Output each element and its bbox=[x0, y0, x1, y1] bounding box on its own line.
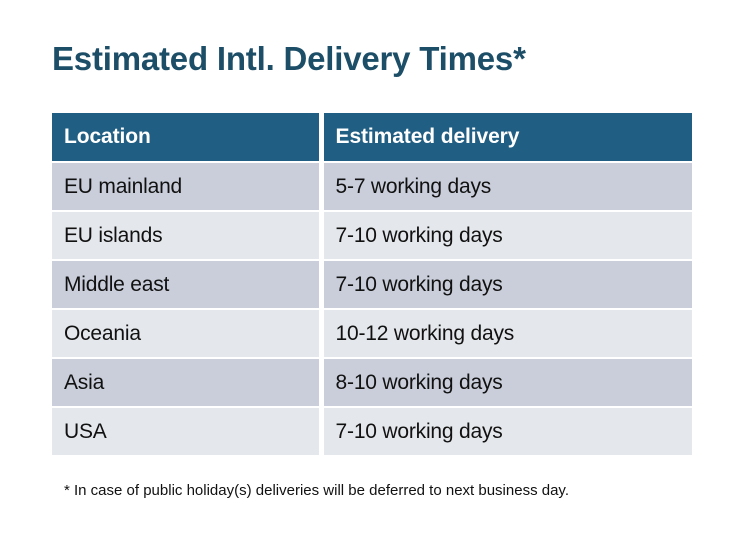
table-body: EU mainland5-7 working daysEU islands7-1… bbox=[52, 161, 692, 455]
table-row: Asia8-10 working days bbox=[52, 359, 692, 406]
cell-location: Asia bbox=[52, 359, 319, 406]
table-row: Middle east7-10 working days bbox=[52, 261, 692, 308]
footnote: * In case of public holiday(s) deliverie… bbox=[64, 481, 569, 501]
cell-location: EU mainland bbox=[52, 163, 319, 210]
cell-estimated-delivery: 7-10 working days bbox=[324, 261, 692, 308]
cell-estimated-delivery: 8-10 working days bbox=[324, 359, 692, 406]
cell-estimated-delivery: 7-10 working days bbox=[324, 408, 692, 455]
column-header-location: Location bbox=[52, 113, 319, 161]
cell-location: EU islands bbox=[52, 212, 319, 259]
page-title: Estimated Intl. Delivery Times* bbox=[52, 37, 526, 81]
table-row: EU islands7-10 working days bbox=[52, 212, 692, 259]
table-header: Location Estimated delivery bbox=[52, 113, 692, 161]
table-header-row: Location Estimated delivery bbox=[52, 113, 692, 161]
cell-location: USA bbox=[52, 408, 319, 455]
table-row: USA7-10 working days bbox=[52, 408, 692, 455]
cell-location: Oceania bbox=[52, 310, 319, 357]
table-row: EU mainland5-7 working days bbox=[52, 163, 692, 210]
cell-estimated-delivery: 10-12 working days bbox=[324, 310, 692, 357]
table-row: Oceania10-12 working days bbox=[52, 310, 692, 357]
cell-estimated-delivery: 7-10 working days bbox=[324, 212, 692, 259]
cell-estimated-delivery: 5-7 working days bbox=[324, 163, 692, 210]
delivery-times-card: Estimated Intl. Delivery Times* Location… bbox=[0, 0, 745, 536]
column-header-estimated-delivery: Estimated delivery bbox=[324, 113, 692, 161]
estimated-delivery-table: Location Estimated delivery EU mainland5… bbox=[52, 113, 692, 455]
cell-location: Middle east bbox=[52, 261, 319, 308]
